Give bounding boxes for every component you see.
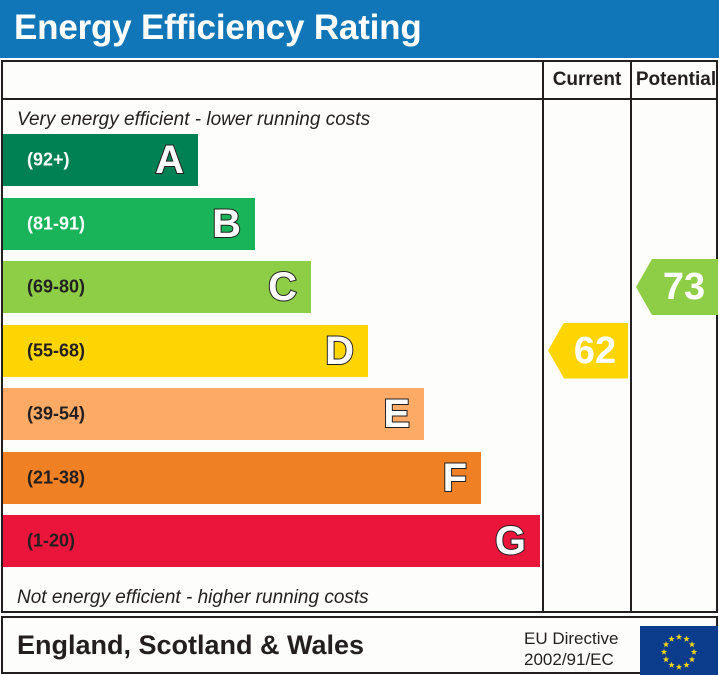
band-a: (92+)A xyxy=(3,134,198,186)
footer-directive-line1: EU Directive xyxy=(524,628,618,649)
band-letter-label: D xyxy=(325,331,354,371)
footer-bar: England, Scotland & Wales EU Directive 2… xyxy=(1,616,718,674)
band-letter-label: C xyxy=(268,267,297,307)
chart-title-bar: Energy Efficiency Rating xyxy=(0,0,719,58)
band-range-label: (55-68) xyxy=(27,340,85,361)
band-f: (21-38)F xyxy=(3,452,481,504)
band-range-label: (81-91) xyxy=(27,213,85,234)
band-range-label: (69-80) xyxy=(27,277,85,298)
band-range-label: (92+) xyxy=(27,150,70,171)
rating-arrow-potential: 73 xyxy=(636,259,718,315)
column-divider-1 xyxy=(542,62,544,611)
band-range-label: (21-38) xyxy=(27,467,85,488)
band-letter-label: A xyxy=(155,140,184,180)
footer-region-label: England, Scotland & Wales xyxy=(17,630,364,661)
band-range-label: (1-20) xyxy=(27,531,75,552)
band-letter-label: G xyxy=(495,521,526,561)
band-letter-label: B xyxy=(212,204,241,244)
band-letter-label: F xyxy=(443,458,467,498)
footer-directive-label: EU Directive 2002/91/EC xyxy=(524,628,618,671)
caption-top: Very energy efficient - lower running co… xyxy=(17,109,370,131)
rating-table: Current Potential Very energy efficient … xyxy=(1,60,718,613)
rating-value-current: 62 xyxy=(560,332,616,370)
band-e: (39-54)E xyxy=(3,388,424,440)
caption-bottom: Not energy efficient - higher running co… xyxy=(17,587,369,609)
rating-value-potential: 73 xyxy=(649,268,705,306)
band-letter-label: E xyxy=(383,394,410,434)
column-divider-2 xyxy=(630,62,632,611)
rating-arrow-current: 62 xyxy=(548,323,628,379)
footer-directive-line2: 2002/91/EC xyxy=(524,649,618,670)
energy-efficiency-rating-chart: Energy Efficiency Rating Current Potenti… xyxy=(0,0,719,675)
column-header-current: Current xyxy=(544,62,630,98)
page-title: Energy Efficiency Rating xyxy=(14,8,422,48)
band-c: (69-80)C xyxy=(3,261,311,313)
column-header-row: Current Potential xyxy=(3,62,716,100)
band-d: (55-68)D xyxy=(3,325,368,377)
column-header-potential: Potential xyxy=(632,62,719,98)
eu-flag-icon xyxy=(640,626,718,675)
band-b: (81-91)B xyxy=(3,198,255,250)
band-g: (1-20)G xyxy=(3,515,540,567)
band-range-label: (39-54) xyxy=(27,404,85,425)
band-list: (92+)A(81-91)B(69-80)C(55-68)D(39-54)E(2… xyxy=(3,134,540,579)
